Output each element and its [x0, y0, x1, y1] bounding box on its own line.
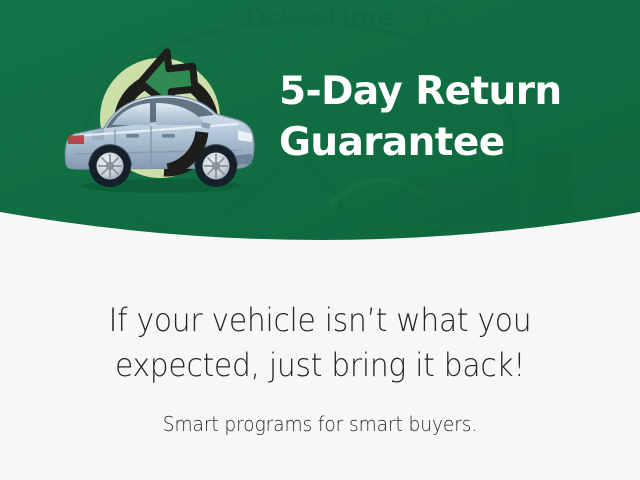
car-return-arrow-illustration: [52, 36, 272, 211]
rear-wheel: [89, 145, 131, 187]
body-headline: If your vehicle isn’t what you expected,…: [69, 298, 571, 388]
hero-header: DriveTime: [0, 0, 640, 262]
hero-heading: 5-Day Return Guarantee: [279, 66, 609, 168]
body-tagline: Smart programs for smart buyers.: [69, 410, 571, 438]
return-guarantee-banner: DriveTime: [0, 0, 640, 480]
body-section: If your vehicle isn’t what you expected,…: [0, 262, 640, 480]
